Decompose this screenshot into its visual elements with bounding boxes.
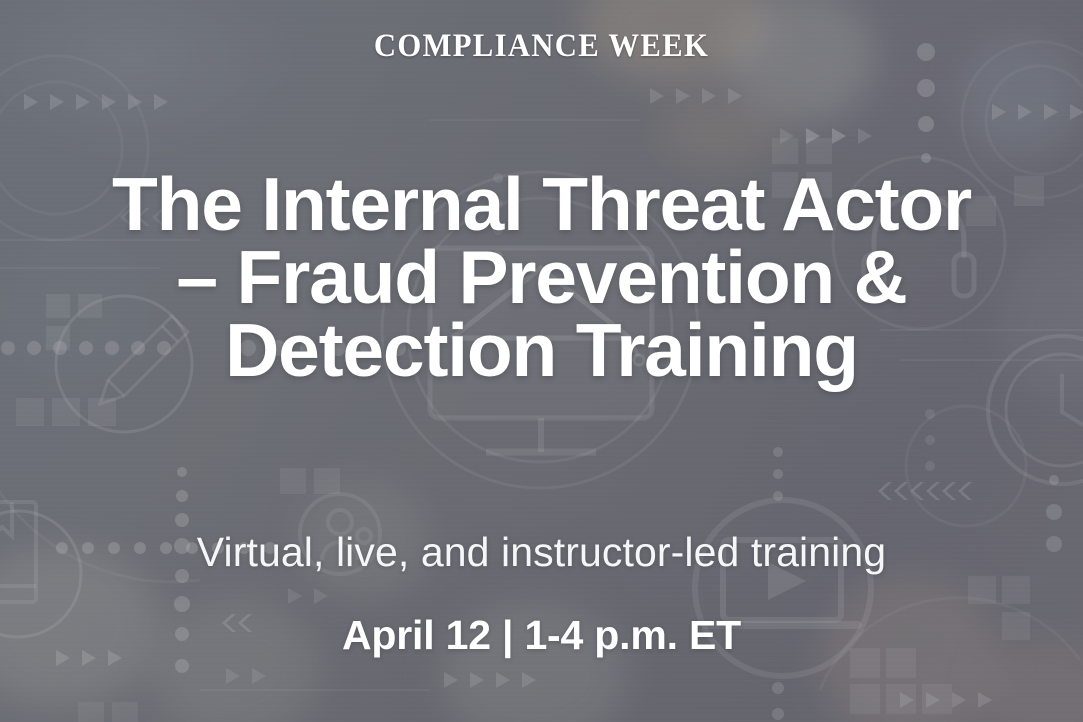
banner-content: COMPLIANCE WEEK The Internal Threat Acto… bbox=[0, 0, 1083, 722]
compliance-week-logo[interactable]: COMPLIANCE WEEK bbox=[38, 30, 1045, 63]
headline-line-3: Detection Training bbox=[18, 314, 1065, 387]
headline-line-1: The Internal Threat Actor bbox=[18, 168, 1065, 241]
page-title: The Internal Threat Actor – Fraud Preven… bbox=[18, 168, 1065, 386]
event-promo-banner: COMPLIANCE WEEK The Internal Threat Acto… bbox=[0, 0, 1083, 722]
event-format-subtitle: Virtual, live, and instructor-led traini… bbox=[0, 530, 1083, 575]
headline-line-2: – Fraud Prevention & bbox=[18, 241, 1065, 314]
event-dateline: April 12 | 1-4 p.m. ET bbox=[0, 613, 1083, 658]
